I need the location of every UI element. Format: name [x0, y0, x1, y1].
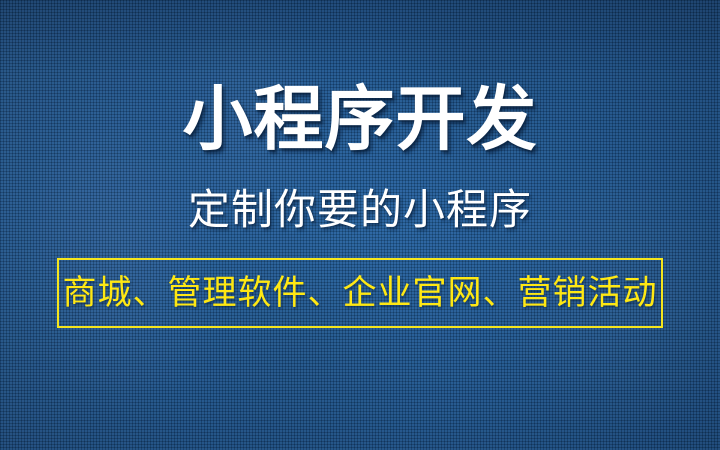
banner-tagline-box: 商城、管理软件、企业官网、营销活动 [57, 258, 663, 328]
banner-tagline-text: 商城、管理软件、企业官网、营销活动 [63, 276, 658, 310]
banner-subheadline: 定制你要的小程序 [0, 189, 720, 231]
promo-banner: 小程序开发 定制你要的小程序 商城、管理软件、企业官网、营销活动 [0, 0, 720, 450]
banner-headline: 小程序开发 [0, 84, 720, 154]
banner-content: 小程序开发 定制你要的小程序 商城、管理软件、企业官网、营销活动 [0, 0, 720, 450]
